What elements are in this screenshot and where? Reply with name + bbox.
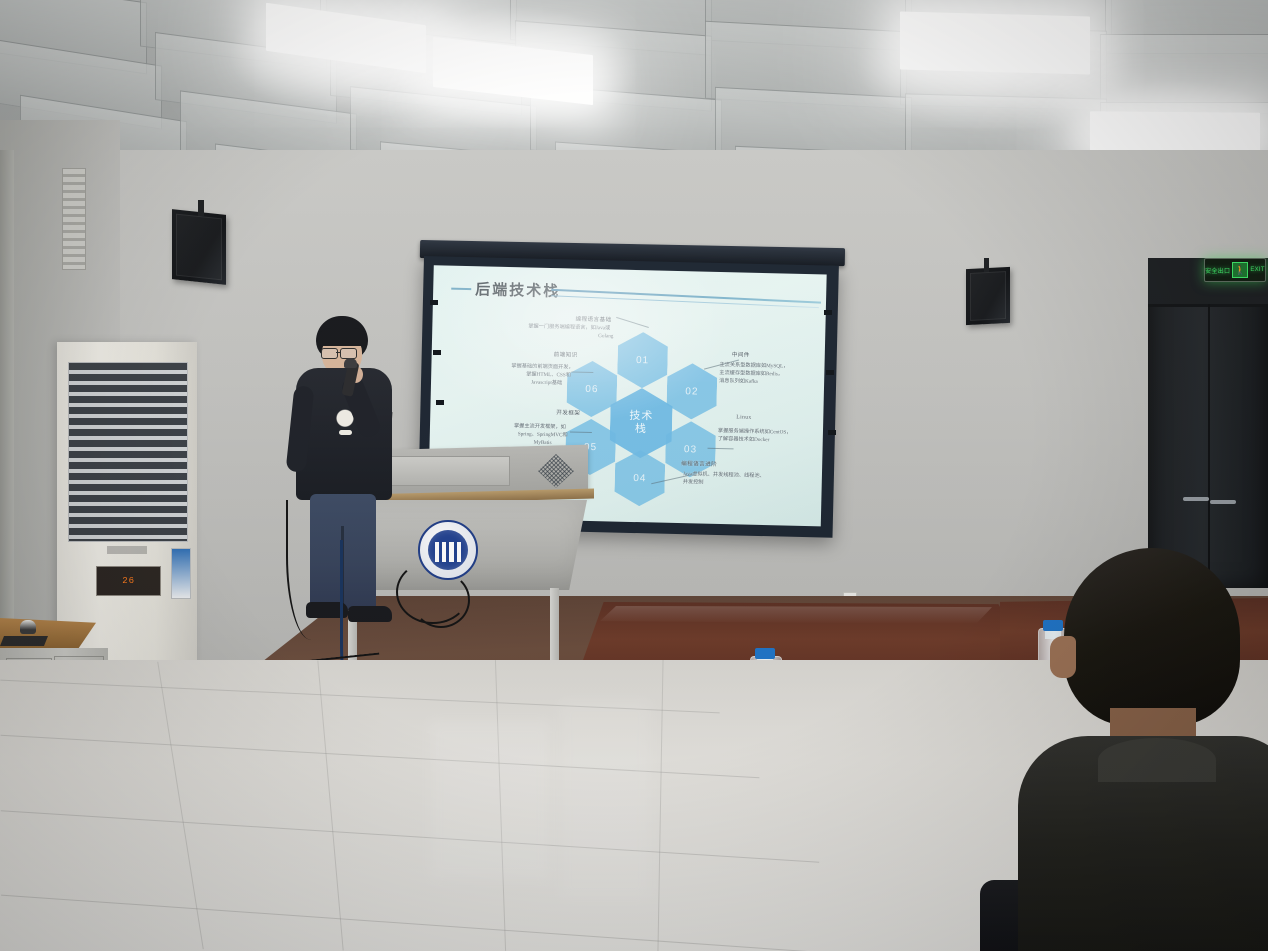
callout-02-body-3: 消息队列如Kafka [719,378,758,386]
hex-01-label: 01 [636,355,649,366]
callout-04-heading: 编程语言进阶 [681,459,717,468]
hex-03: 03 [665,421,716,478]
screen-mount-pin [828,430,836,435]
speaker-grille [176,214,222,281]
callout-01-leader [616,317,649,328]
audience-collar [1098,738,1216,782]
callout-02-body-2: 主流缓存型数据库如Redis， [719,370,783,378]
hex-06-label: 06 [585,383,598,394]
wall-speaker-left [172,209,226,285]
ac-display[interactable]: 26 [96,566,161,596]
speaker-bracket [984,258,989,272]
hex-center-label: 技术栈 [629,410,654,437]
screen-mount-pin [436,400,444,405]
emblem-pillars [435,542,461,562]
hex-02-label: 02 [685,386,698,397]
speaker-grille [970,271,1006,321]
screen-mount-pin [824,310,832,315]
ac-grille [68,362,188,542]
audience-member-foreground [1036,548,1268,951]
hex-03-label: 03 [684,444,697,455]
hex-center-tech-stack: 技术栈 [609,387,673,458]
running-man-icon: 🚶 [1232,262,1248,278]
exit-sign-text-cn: 安全出口 [1205,266,1230,275]
slide-title: 后端技术栈 [475,278,560,301]
door-center-seam [1208,304,1210,588]
callout-04-body-2: 并发控制 [683,479,704,486]
exit-sign-text-en: EXIT [1250,267,1265,273]
callout-06-body-1: 掌握基础的前端页面开发， [511,363,573,371]
ceiling-light-panel [900,12,1090,75]
title-accent-dash [451,288,471,290]
audience-ear [1050,636,1076,678]
door-handle-right[interactable] [1210,500,1236,504]
wall-vent-strip [62,168,86,270]
glasses-bridge [336,352,341,353]
speaker-bracket [198,200,204,216]
callout-02-heading: 中间件 [732,350,750,358]
door-handle-left[interactable] [1183,497,1209,501]
hex-04: 04 [614,450,665,507]
bottle-cap [755,648,774,659]
presenter-fringe [317,328,367,346]
screen-mount-pin [826,370,834,375]
wall-speaker-right [966,267,1010,325]
callout-05-heading: 开发框架 [556,408,580,417]
ac-brand-strip [107,546,146,554]
callout-01-body-1: 掌握一门服务端编程语言，如Java或 [528,323,610,332]
ac-display-value: 26 [122,576,135,586]
hex-04-label: 04 [633,472,646,483]
hex-01: 01 [617,332,668,389]
callout-06-heading: 前端知识 [554,350,578,359]
ac-energy-label [171,548,191,598]
hex-02: 02 [666,363,717,420]
callout-01-heading: 编程语言基础 [575,315,611,324]
audience-head [1064,548,1240,726]
callout-06-body-3: Javascript基础 [531,380,562,388]
callout-03-heading: Linux [736,414,752,420]
callout-03-body-2: 了解容器技术如Docker [718,436,770,444]
callout-06-body-2: 掌握HTML、CSS和 [526,371,571,379]
glasses-lens-left [321,348,338,359]
callout-01-body-2: Golang [598,333,613,340]
cable-loop [412,572,470,628]
callout-05-body-2: Spring、SpringMVC和 [518,431,568,439]
lecture-room-photo: 后端技术栈 01 02 03 04 05 06 技术栈 [0,0,1268,951]
screen-mount-pin [430,300,438,305]
microphone-head [344,358,357,368]
table-sheen [600,606,1000,624]
emergency-exit-sign: 安全出口 🚶 EXIT [1204,258,1266,282]
screen-mount-pin [433,350,441,355]
shelf-figurine [20,620,36,634]
callout-05-body-1: 掌握主流开发框架，如 [514,423,566,431]
shelf-mat [0,636,48,646]
wall-corner [0,150,14,670]
